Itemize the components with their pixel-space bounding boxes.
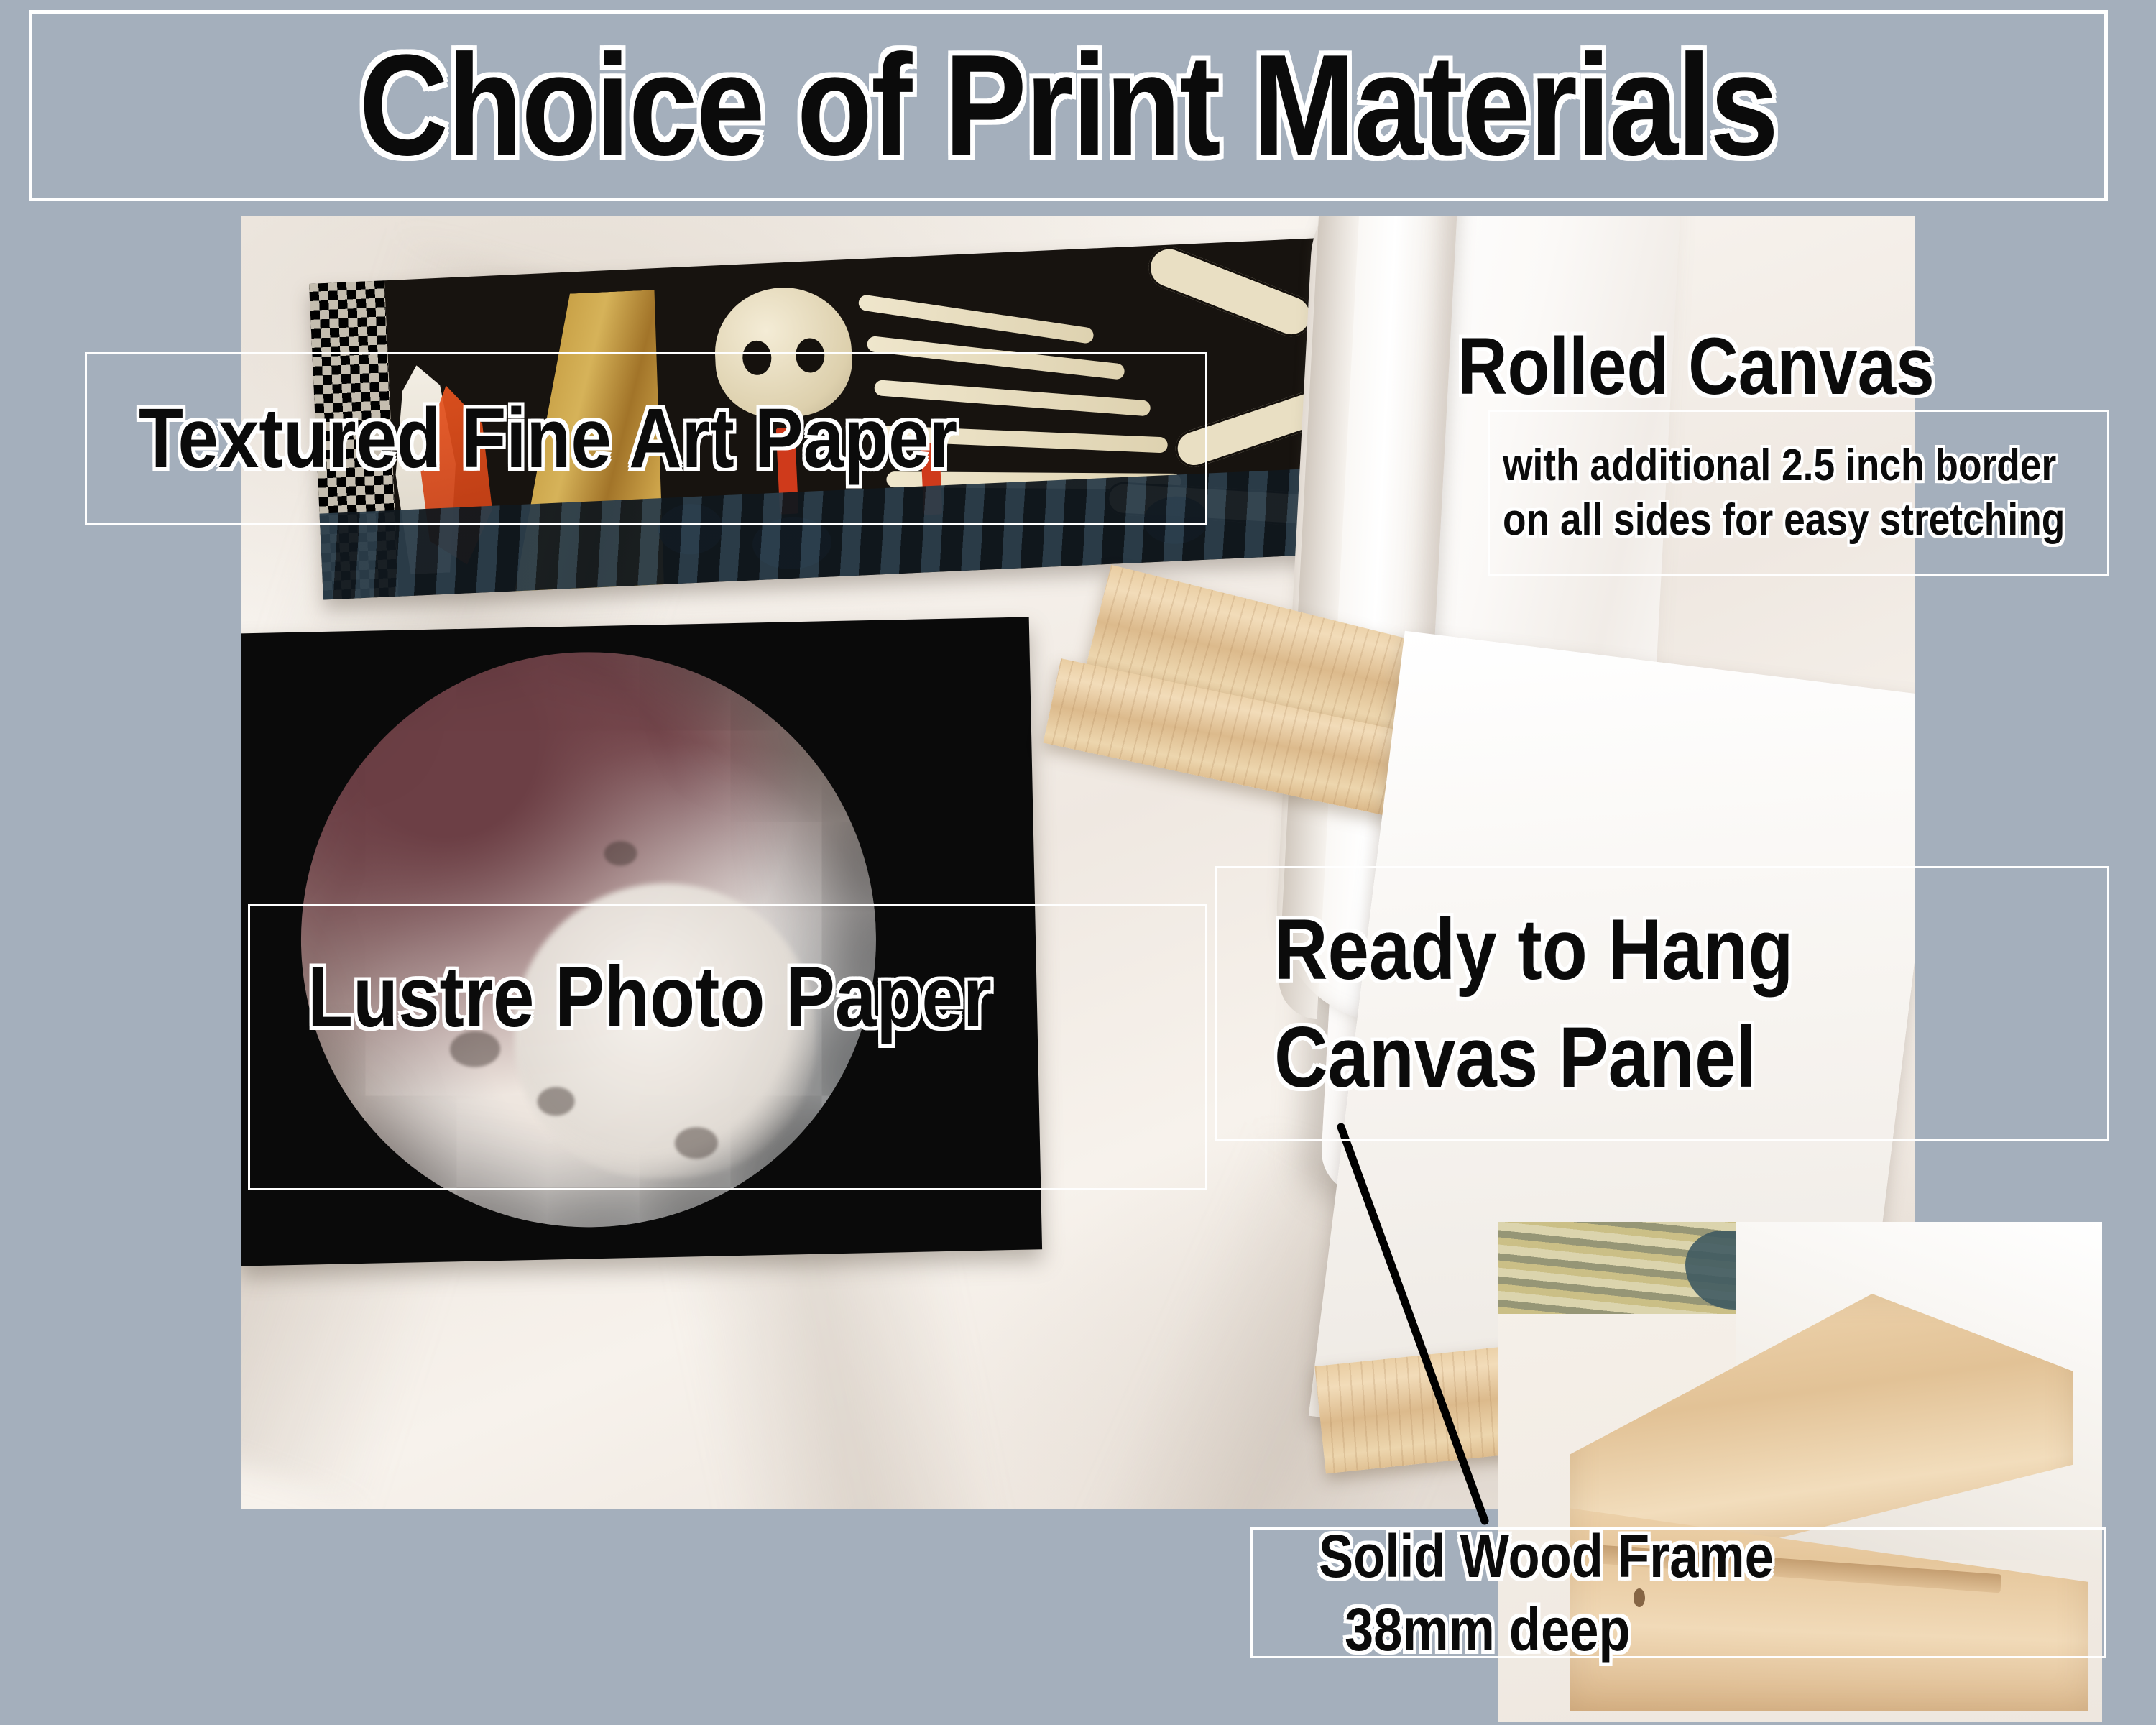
callout-ready-to-hang-canvas-panel: Ready to Hang Canvas Panel xyxy=(1215,866,2109,1141)
callout-label-rolled-canvas: Rolled Canvas xyxy=(1457,324,2018,409)
callout-rolled-canvas: Rolled Canvas xyxy=(1437,327,2109,406)
callout-textured-fine-art-paper: Textured Fine Art Paper xyxy=(85,352,1207,525)
callout-rolled-canvas-details: with additional 2.5 inch border on all s… xyxy=(1488,410,2109,576)
callout-label-lustre-photo-paper: Lustre Photo Paper xyxy=(308,952,1079,1042)
callout-lustre-photo-paper: Lustre Photo Paper xyxy=(248,904,1207,1190)
callout-solid-wood-frame: Solid Wood Frame 38mm deep xyxy=(1250,1527,2106,1658)
callout-label-textured-fine-art-paper: Textured Fine Art Paper xyxy=(139,394,1056,483)
print-bone xyxy=(1143,241,1319,343)
callout-label-solid-wood-frame: Solid Wood Frame xyxy=(1319,1519,1994,1593)
callout-label-ready-to-hang: Ready to Hang xyxy=(1274,896,1991,1003)
infographic-canvas: Choice of Print Materials Textured Fine … xyxy=(0,0,2156,1725)
page-title: Choice of Print Materials xyxy=(359,34,1778,178)
callout-subline-stretching: on all sides for easy stretching xyxy=(1503,493,2022,548)
page-title-box: Choice of Print Materials xyxy=(29,10,2108,201)
callout-label-frame-depth: 38mm deep xyxy=(1345,1593,1997,1666)
callout-subline-border: with additional 2.5 inch border xyxy=(1503,438,2022,493)
print-rib xyxy=(857,294,1095,344)
callout-label-canvas-panel: Canvas Panel xyxy=(1274,1003,1991,1111)
